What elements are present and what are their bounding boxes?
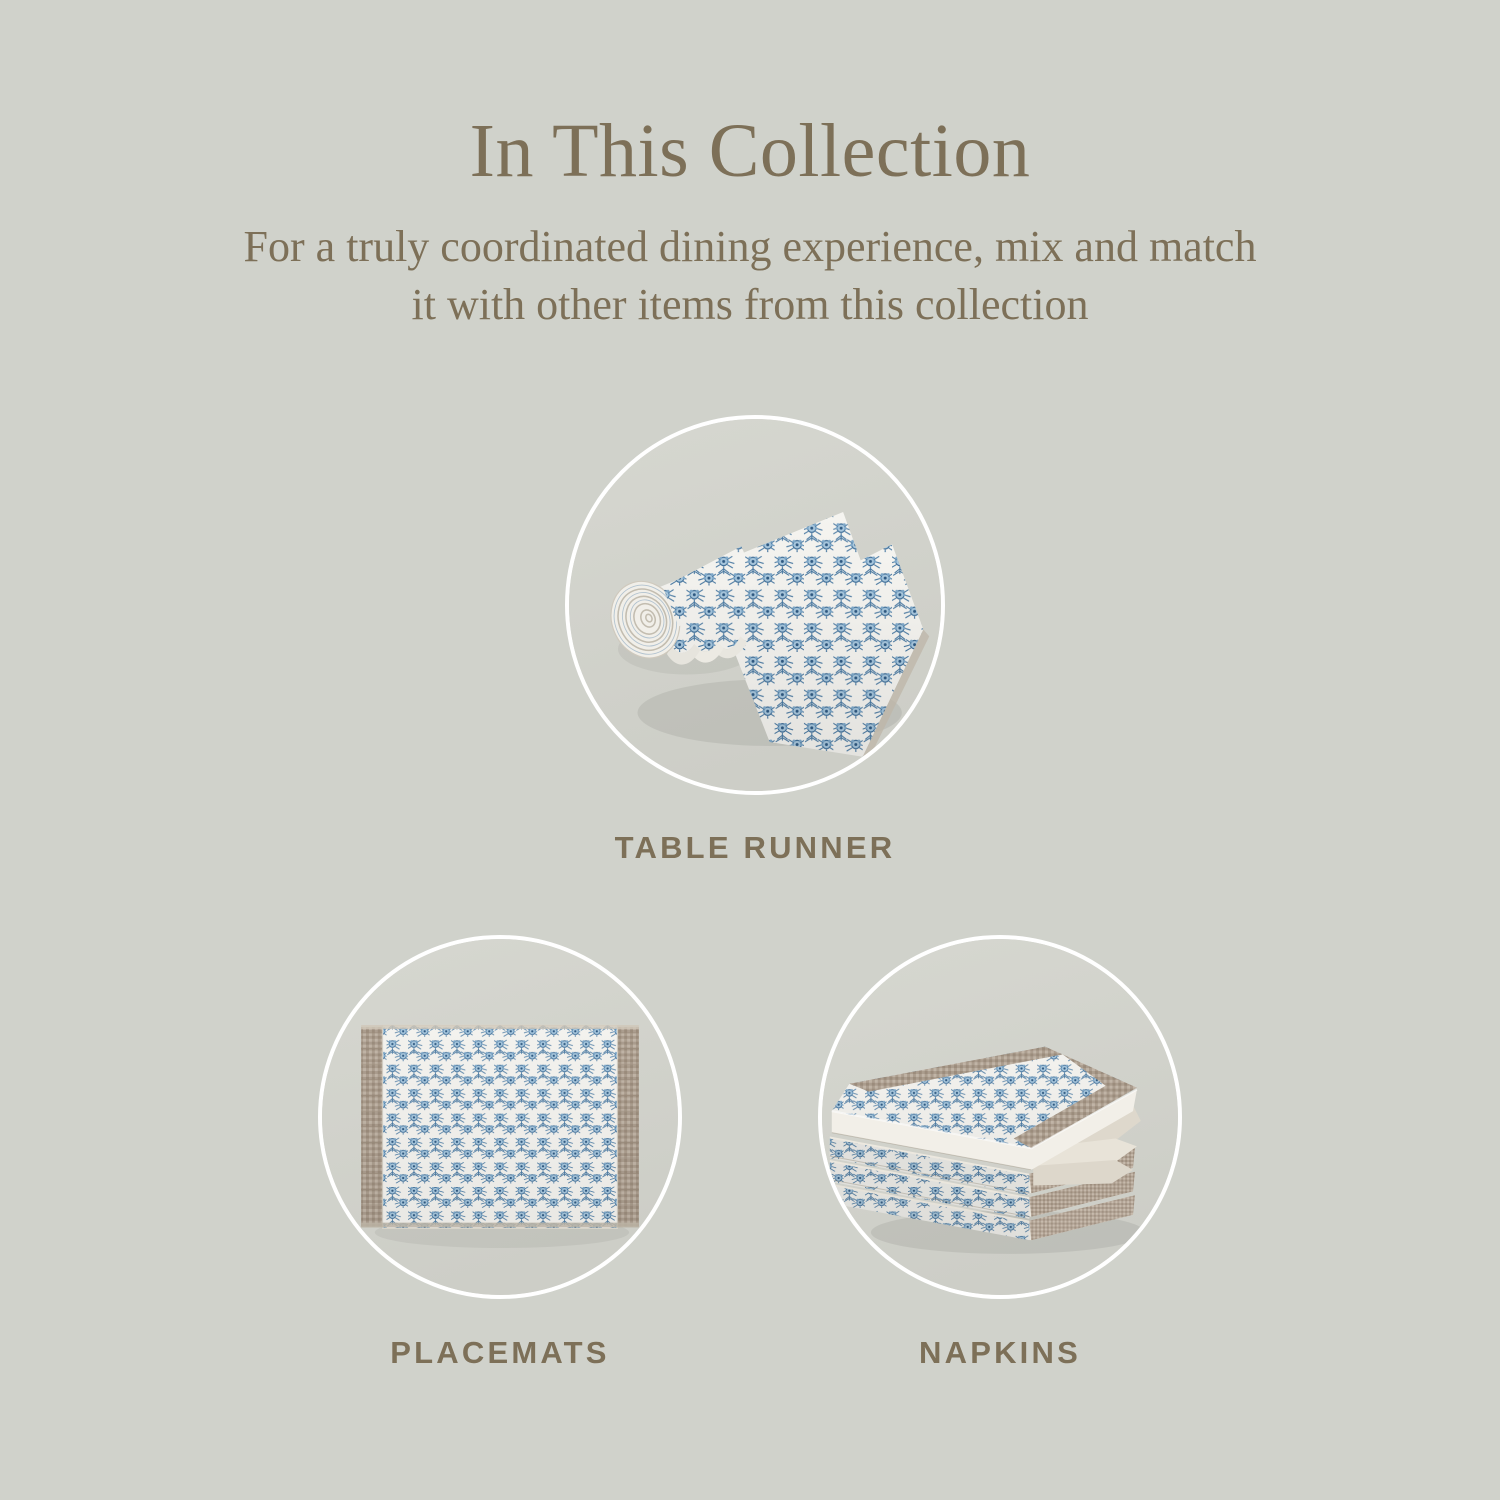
napkin-illustration bbox=[822, 939, 1178, 1295]
table-runner-photo bbox=[569, 419, 941, 791]
subtitle-line-1: For a truly coordinated dining experienc… bbox=[90, 218, 1410, 276]
product-caption-placemats: PLACEMATS bbox=[318, 1335, 682, 1371]
placemat-photo bbox=[322, 939, 678, 1295]
collection-page: In This Collection For a truly coordinat… bbox=[0, 0, 1500, 1500]
placemat-illustration bbox=[322, 939, 678, 1295]
page-subtitle: For a truly coordinated dining experienc… bbox=[90, 192, 1410, 334]
napkin-photo bbox=[822, 939, 1178, 1295]
product-image-circle-napkins[interactable] bbox=[818, 935, 1182, 1299]
table-runner-illustration bbox=[569, 419, 941, 791]
product-image-circle-table-runner[interactable] bbox=[565, 415, 945, 795]
product-image-circle-placemats[interactable] bbox=[318, 935, 682, 1299]
subtitle-line-2: it with other items from this collection bbox=[90, 276, 1410, 334]
page-header: In This Collection For a truly coordinat… bbox=[0, 0, 1500, 334]
page-title: In This Collection bbox=[0, 0, 1500, 192]
product-card-placemats[interactable]: PLACEMATS bbox=[318, 935, 682, 1299]
product-card-table-runner[interactable]: TABLE RUNNER bbox=[565, 415, 945, 795]
product-caption-table-runner: TABLE RUNNER bbox=[565, 830, 945, 866]
product-caption-napkins: NAPKINS bbox=[818, 1335, 1182, 1371]
product-card-napkins[interactable]: NAPKINS bbox=[818, 935, 1182, 1299]
